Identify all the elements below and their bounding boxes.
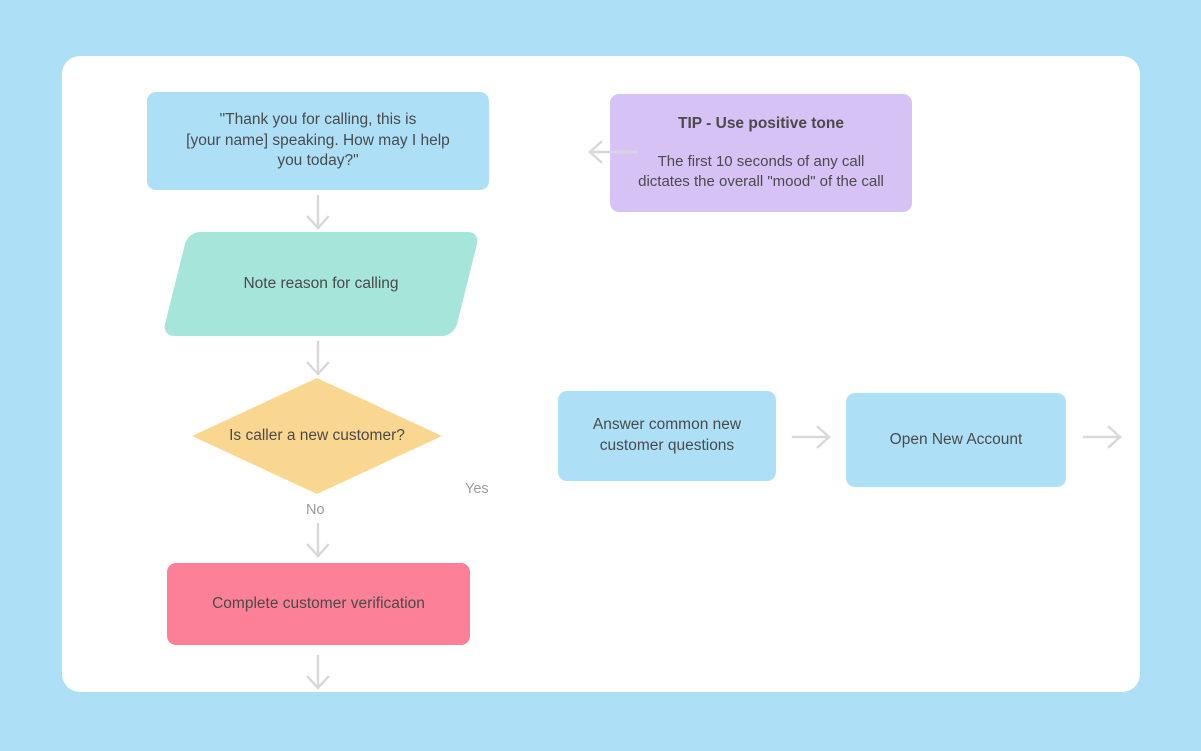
- node-note-reason-label: Note reason for calling: [175, 232, 467, 336]
- edge-label-no: No: [306, 502, 325, 518]
- node-answer-questions-label: Answer common new customer questions: [593, 415, 741, 457]
- arrow-right-icon: [793, 423, 833, 451]
- arrow-down-icon: [304, 656, 332, 692]
- node-open-new-account-label: Open New Account: [890, 430, 1023, 451]
- flowchart-canvas: "Thank you for calling, this is [your na…: [62, 56, 1140, 692]
- arrow-down-icon: [304, 196, 332, 230]
- arrow-down-icon: [304, 524, 332, 558]
- node-decision-label: Is caller a new customer?: [192, 378, 442, 494]
- edge-label-yes: Yes: [465, 481, 489, 497]
- node-greeting-script[interactable]: "Thank you for calling, this is [your na…: [147, 92, 489, 190]
- arrow-down-icon: [304, 342, 332, 376]
- node-note-reason[interactable]: Note reason for calling: [175, 232, 467, 336]
- node-complete-verification[interactable]: Complete customer verification: [167, 563, 470, 645]
- node-tip-body: The first 10 seconds of any call dictate…: [638, 152, 884, 193]
- node-answer-questions[interactable]: Answer common new customer questions: [558, 391, 776, 481]
- node-decision-new-customer[interactable]: Is caller a new customer?: [192, 378, 442, 494]
- arrow-right-icon: [1084, 423, 1124, 451]
- node-tip-title: TIP - Use positive tone: [678, 114, 844, 135]
- node-greeting-script-label: "Thank you for calling, this is [your na…: [186, 110, 450, 172]
- arrow-left-icon: [586, 138, 638, 166]
- node-tip-positive-tone[interactable]: TIP - Use positive tone The first 10 sec…: [610, 94, 912, 212]
- node-complete-verification-label: Complete customer verification: [212, 594, 425, 615]
- page-background: "Thank you for calling, this is [your na…: [0, 0, 1201, 751]
- node-open-new-account[interactable]: Open New Account: [846, 393, 1066, 487]
